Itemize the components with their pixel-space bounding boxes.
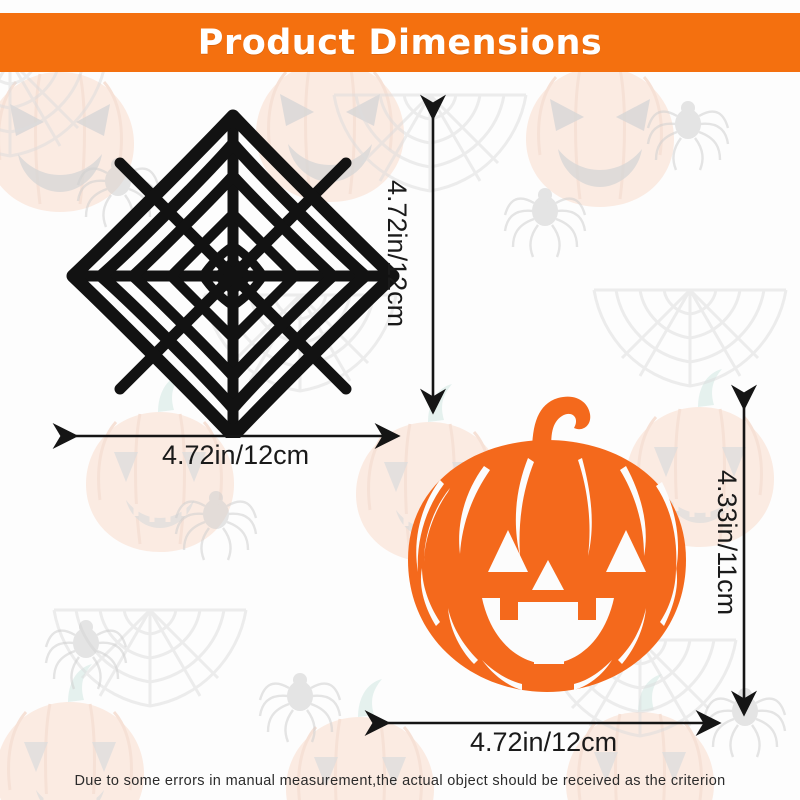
footer: Due to some errors in manual measurement… (0, 772, 800, 790)
banner: Product Dimensions (0, 13, 800, 72)
pumpkin-width-label: 4.72in/12cm (470, 727, 617, 758)
disclaimer-text: Due to some errors in manual measurement… (74, 773, 725, 789)
dimension-annotations: 4.72in/12cm 4.72in/12cm 4.72in/12cm 4.33… (0, 0, 800, 800)
pumpkin-height-label: 4.33in/11cm (711, 470, 742, 615)
web-width-label: 4.72in/12cm (162, 440, 309, 471)
product-dimensions-infographic: Product Dimensions (0, 0, 800, 800)
web-height-label: 4.72in/12cm (381, 180, 412, 327)
page-title: Product Dimensions (198, 23, 602, 63)
